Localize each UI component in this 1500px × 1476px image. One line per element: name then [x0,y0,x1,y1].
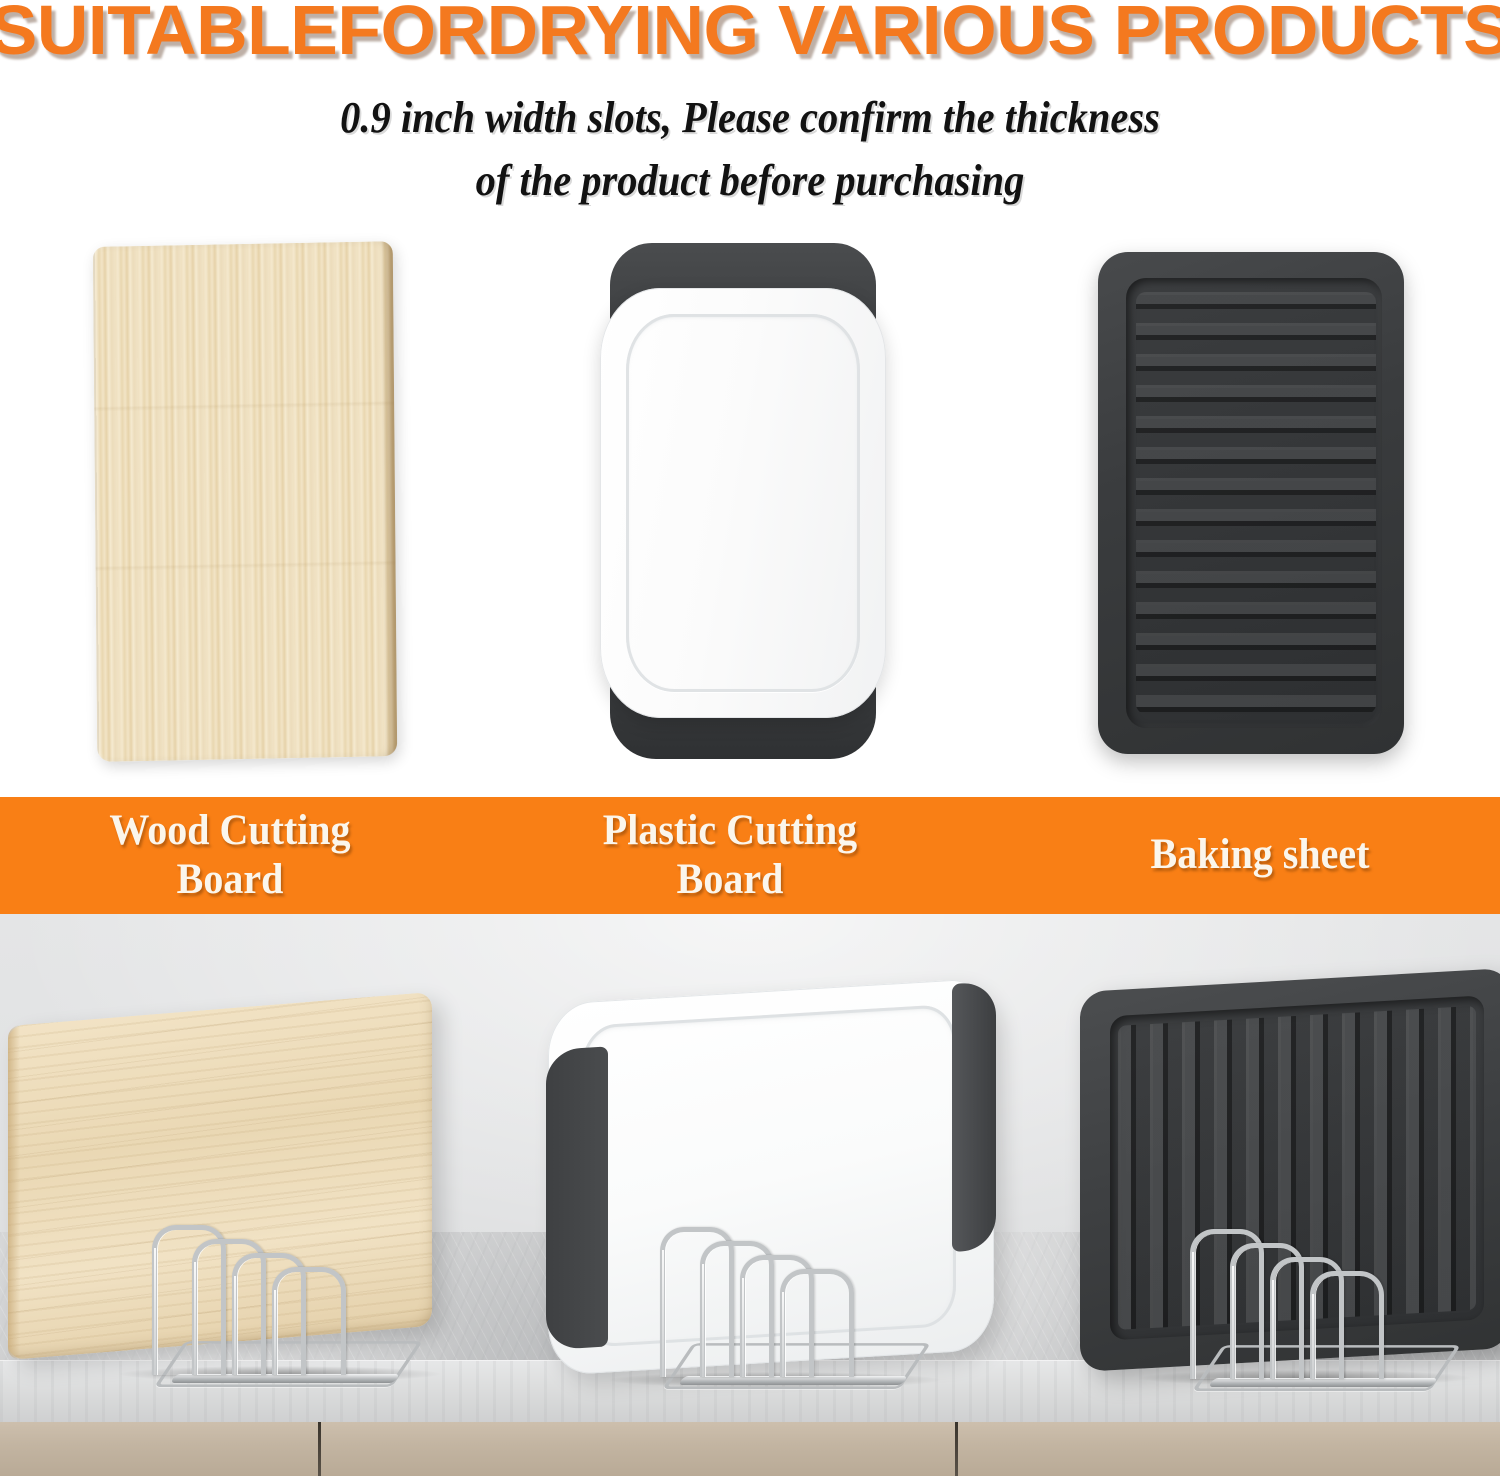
subtitle-line-1: 0.9 inch width slots, Please confirm the… [60,92,1440,143]
banner-label-line2: Board [177,856,284,903]
rack-divider-4 [272,1267,346,1375]
headline: SUITABLEFORDRYING VARIOUS PRODUCTS [0,0,1500,68]
wire-organizer-rack-middle [660,1174,920,1389]
rack-divider-4 [780,1269,854,1377]
baking-sheet-image [1098,252,1404,754]
top-product-panel: SUITABLEFORDRYING VARIOUS PRODUCTS 0.9 i… [0,0,1500,797]
banner-label-line1: Plastic Cutting [603,807,857,854]
banner-label-line1: Wood Cutting [109,807,350,854]
banner-label-baking-sheet: Baking sheet [1055,797,1464,914]
plastic-board-grip-left [546,1046,608,1350]
wire-organizer-rack-right [1190,1176,1450,1391]
rack-front-bar [1208,1378,1438,1387]
lifestyle-photo [0,914,1500,1476]
banner-label-plastic-cutting-board: Plastic Cutting Board [535,797,926,914]
plastic-board-juice-groove [626,314,860,692]
cabinet-seam [318,1422,321,1476]
baking-sheet-ridges [1136,292,1376,714]
wood-cutting-board-image [93,241,397,762]
rack-front-bar [678,1376,908,1385]
cabinet-seam [955,1422,958,1476]
plastic-cutting-board-image [600,243,886,759]
banner-label-wood-cutting-board: Wood Cutting Board [35,797,426,914]
plastic-board-surface [600,288,886,718]
banner-label-line1: Baking sheet [1151,831,1370,878]
rack-front-bar [170,1374,400,1383]
product-label-banner: Wood Cutting Board Plastic Cutting Board… [0,797,1500,914]
banner-label-line2: Board [677,856,784,903]
wire-organizer-rack-left [152,1172,412,1387]
subtitle-line-2: of the product before purchasing [60,155,1440,206]
baking-sheet-well [1126,278,1382,728]
plastic-board-grip-right [952,981,996,1252]
rack-divider-4 [1310,1271,1384,1379]
kitchen-cabinet [0,1422,1500,1476]
